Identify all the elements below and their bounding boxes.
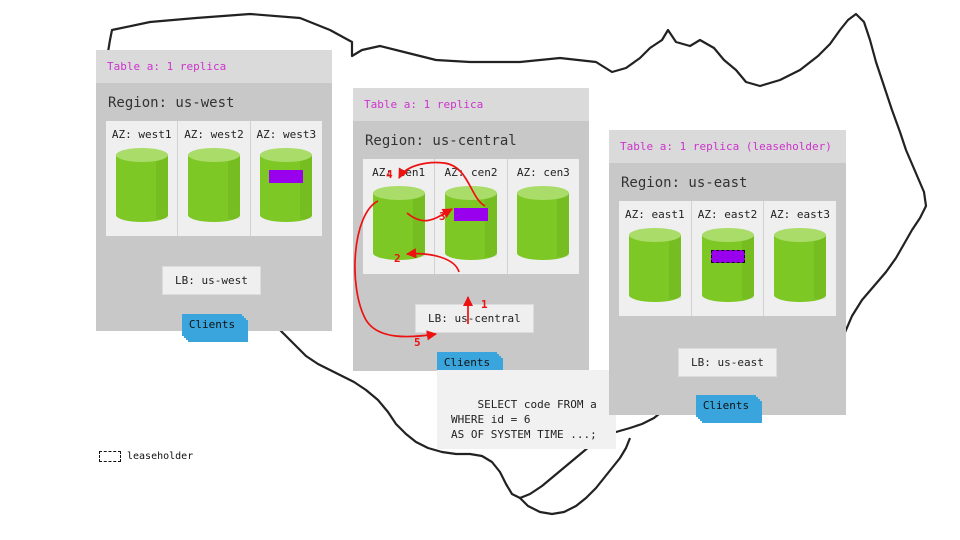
az-label-west3: AZ: west3 bbox=[251, 128, 322, 141]
az-east3[interactable]: AZ: east3 bbox=[764, 201, 836, 316]
cylinder-top bbox=[774, 228, 826, 242]
cylinder-top bbox=[702, 228, 754, 242]
clients-us-west[interactable]: Clients bbox=[182, 314, 248, 340]
cylinder-top bbox=[260, 148, 312, 162]
arrow-number-3: 3 bbox=[439, 210, 446, 223]
replica-marker-cen2 bbox=[454, 208, 488, 221]
arrow-number-4: 4 bbox=[386, 168, 393, 181]
arrow-number-5: 5 bbox=[414, 336, 421, 349]
dashed-rectangle-icon bbox=[99, 451, 121, 462]
cylinder-top bbox=[629, 228, 681, 242]
clients-label: Clients bbox=[182, 314, 242, 336]
region-header-label: Table a: 1 replica (leaseholder) bbox=[620, 140, 832, 153]
region-panel-us-west: Table a: 1 replica Region: us-west AZ: w… bbox=[96, 50, 332, 331]
lb-label: LB: us-east bbox=[691, 356, 764, 369]
arrow-number-1: 1 bbox=[481, 298, 488, 311]
az-row-us-west: AZ: west1 AZ: west2 bbox=[106, 121, 322, 236]
sql-query-box: SELECT code FROM a WHERE id = 6 AS OF SY… bbox=[437, 370, 616, 449]
az-east1[interactable]: AZ: east1 bbox=[619, 201, 692, 316]
cylinder-shade bbox=[669, 235, 681, 299]
region-header-us-west: Table a: 1 replica bbox=[96, 50, 332, 83]
region-header-us-central: Table a: 1 replica bbox=[353, 88, 589, 121]
cylinder-top bbox=[116, 148, 168, 162]
region-body-us-central: Region: us-central AZ: cen1 AZ: cen2 bbox=[353, 121, 589, 371]
cylinder-west3[interactable] bbox=[260, 148, 312, 222]
replica-marker-west3 bbox=[269, 170, 303, 183]
legend-leaseholder: leaseholder bbox=[99, 451, 193, 462]
sql-query-text: SELECT code FROM a WHERE id = 6 AS OF SY… bbox=[451, 398, 597, 441]
clients-us-east[interactable]: Clients bbox=[696, 395, 762, 421]
az-label-east1: AZ: east1 bbox=[619, 208, 691, 221]
cylinder-east3[interactable] bbox=[774, 228, 826, 302]
az-label-west2: AZ: west2 bbox=[178, 128, 249, 141]
cylinder-shade bbox=[156, 155, 168, 219]
lb-label: LB: us-west bbox=[175, 274, 248, 287]
cylinder-shade bbox=[814, 235, 826, 299]
cylinder-shade bbox=[413, 193, 425, 257]
diagram-canvas: Table a: 1 replica Region: us-west AZ: w… bbox=[0, 0, 960, 540]
cylinder-top bbox=[188, 148, 240, 162]
region-title-us-central: Region: us-central bbox=[353, 121, 589, 149]
cylinder-east1[interactable] bbox=[629, 228, 681, 302]
leaseholder-marker-east2 bbox=[711, 250, 745, 263]
cylinder-shade bbox=[228, 155, 240, 219]
cylinder-shade bbox=[557, 193, 569, 257]
az-label-east3: AZ: east3 bbox=[764, 208, 836, 221]
az-cen3[interactable]: AZ: cen3 bbox=[508, 159, 579, 274]
az-label-west1: AZ: west1 bbox=[106, 128, 177, 141]
cylinder-top bbox=[517, 186, 569, 200]
az-label-east2: AZ: east2 bbox=[692, 208, 764, 221]
cylinder-west2[interactable] bbox=[188, 148, 240, 222]
region-header-label: Table a: 1 replica bbox=[107, 60, 226, 73]
cylinder-shade bbox=[300, 155, 312, 219]
cylinder-west1[interactable] bbox=[116, 148, 168, 222]
region-panel-us-central: Table a: 1 replica Region: us-central AZ… bbox=[353, 88, 589, 371]
region-title-us-east: Region: us-east bbox=[609, 163, 846, 191]
lb-us-east[interactable]: LB: us-east bbox=[678, 348, 777, 377]
cylinder-shade bbox=[485, 193, 497, 257]
cylinder-cen1[interactable] bbox=[373, 186, 425, 260]
az-west3[interactable]: AZ: west3 bbox=[251, 121, 322, 236]
az-cen2[interactable]: AZ: cen2 bbox=[435, 159, 507, 274]
az-east2[interactable]: AZ: east2 bbox=[692, 201, 765, 316]
cylinder-top bbox=[373, 186, 425, 200]
region-header-label: Table a: 1 replica bbox=[364, 98, 483, 111]
legend-label: leaseholder bbox=[127, 451, 193, 462]
region-body-us-west: Region: us-west AZ: west1 AZ: west2 bbox=[96, 83, 332, 331]
az-west1[interactable]: AZ: west1 bbox=[106, 121, 178, 236]
cylinder-top bbox=[445, 186, 497, 200]
region-header-us-east: Table a: 1 replica (leaseholder) bbox=[609, 130, 846, 163]
cylinder-cen2[interactable] bbox=[445, 186, 497, 260]
clients-label: Clients bbox=[696, 395, 756, 417]
region-title-us-west: Region: us-west bbox=[96, 83, 332, 111]
az-row-us-east: AZ: east1 AZ: east2 bbox=[619, 201, 836, 316]
az-label-cen1: AZ: cen1 bbox=[363, 166, 434, 179]
region-body-us-east: Region: us-east AZ: east1 AZ: east2 bbox=[609, 163, 846, 415]
lb-us-west[interactable]: LB: us-west bbox=[162, 266, 261, 295]
lb-us-central[interactable]: LB: us-central bbox=[415, 304, 534, 333]
arrow-number-2: 2 bbox=[394, 252, 401, 265]
lb-label: LB: us-central bbox=[428, 312, 521, 325]
cylinder-cen3[interactable] bbox=[517, 186, 569, 260]
cylinder-shade bbox=[742, 235, 754, 299]
az-west2[interactable]: AZ: west2 bbox=[178, 121, 250, 236]
cylinder-east2[interactable] bbox=[702, 228, 754, 302]
az-label-cen3: AZ: cen3 bbox=[508, 166, 579, 179]
region-panel-us-east: Table a: 1 replica (leaseholder) Region:… bbox=[609, 130, 846, 415]
az-label-cen2: AZ: cen2 bbox=[435, 166, 506, 179]
